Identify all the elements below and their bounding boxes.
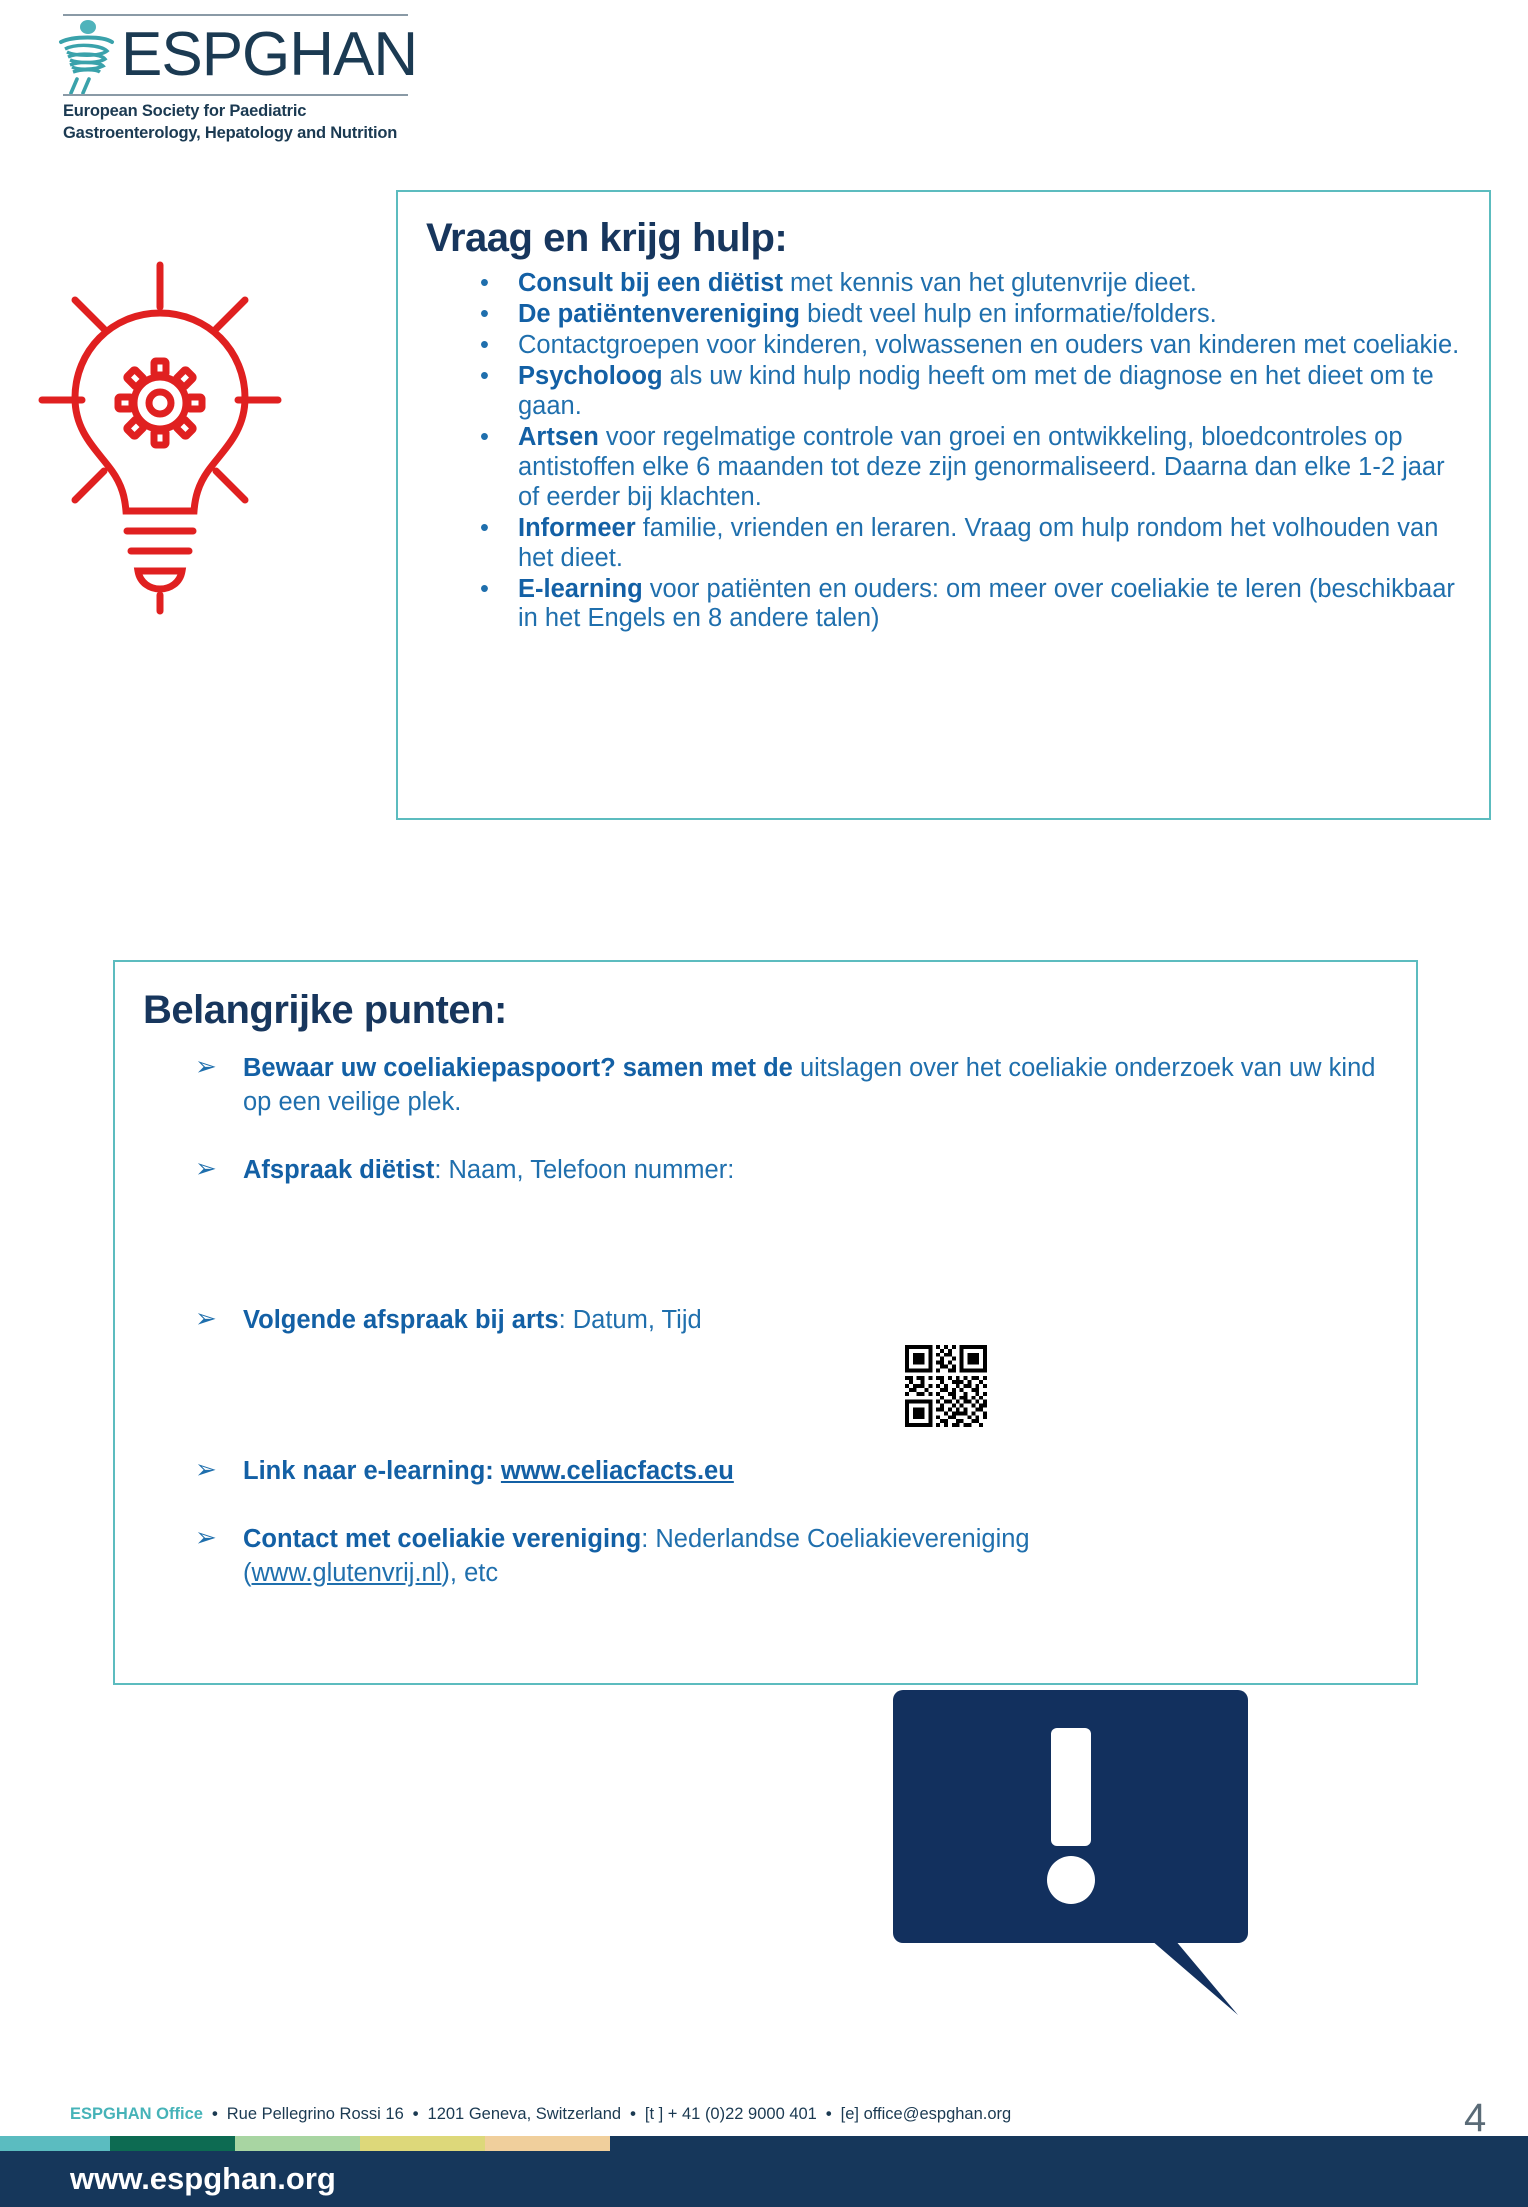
chevron-right-icon: ➢ [195, 1301, 217, 1336]
bar-segment-sand [485, 2136, 610, 2151]
list-item-bold: Link naar e-learning: [243, 1457, 494, 1485]
list-item: •Consult bij een diëtist met kennis van … [518, 269, 1463, 299]
bar-segment-teal [0, 2136, 110, 2151]
important-points-box: Belangrijke punten: ➢ Bewaar uw coeliaki… [113, 960, 1418, 1685]
list-item-bold: Consult bij een diëtist [518, 269, 783, 297]
list-item-text [494, 1457, 501, 1485]
footer-address: Rue Pellegrino Rossi 16 [227, 2105, 404, 2123]
page-number: 4 [1464, 2096, 1486, 2141]
footer-separator: • [621, 2105, 645, 2123]
list-item-text: Contactgroepen voor kinderen, volwassene… [518, 331, 1459, 359]
footer-office: ESPGHAN Office [70, 2105, 203, 2123]
chevron-right-icon: ➢ [195, 1049, 217, 1084]
list-item-bold: Contact met coeliakie vereniging [243, 1525, 641, 1553]
list-item-bold: Artsen [518, 423, 599, 451]
footer-phone: [t ] + 41 (0)22 9000 401 [645, 2105, 817, 2123]
bar-segment-navy [610, 2136, 1528, 2151]
footer-email: [e] office@espghan.org [841, 2105, 1012, 2123]
logo-subtitle-line1: European Society for Paediatric [63, 101, 410, 123]
list-item: •Artsen voor regelmatige controle van gr… [518, 423, 1463, 513]
elearning-link[interactable]: www.celiacfacts.eu [501, 1457, 734, 1485]
list-item-bold: E-learning [518, 575, 643, 603]
list-item: •E-learning voor patiënten en ouders: om… [518, 575, 1463, 635]
logo-subtitle: European Society for Paediatric Gastroen… [63, 101, 410, 145]
list-item-bold: Informeer [518, 514, 636, 542]
list-item-text: met kennis van het glutenvrije dieet. [783, 269, 1197, 297]
exclamation-callout-icon [893, 1690, 1248, 2015]
bullet-icon: • [480, 575, 489, 605]
list-item-text: voor regelmatige controle van groei en o… [518, 423, 1445, 511]
list-item-text: biedt veel hulp en informatie/folders. [800, 300, 1217, 328]
list-item-text: familie, vrienden en leraren. Vraag om h… [518, 514, 1438, 572]
help-bullet-list: •Consult bij een diëtist met kennis van … [398, 263, 1489, 634]
list-item-bold: Volgende afspraak bij arts [243, 1306, 559, 1334]
footer-separator: • [817, 2105, 841, 2123]
bar-segment-yellow [360, 2136, 485, 2151]
qr-code-icon [905, 1345, 987, 1427]
footer-city: 1201 Geneva, Switzerland [428, 2105, 622, 2123]
list-item-bold: Bewaar uw coeliakiepaspoort? samen met d… [243, 1054, 793, 1082]
footer-contact: ESPGHAN Office•Rue Pellegrino Rossi 16•1… [70, 2105, 1430, 2124]
footer-website-url[interactable]: www.espghan.org [70, 2161, 336, 2197]
list-item: ➢ Link naar e-learning: www.celiacfacts.… [243, 1454, 1386, 1488]
association-link[interactable]: www.glutenvrij.nl [252, 1559, 442, 1587]
list-item: •De patiëntenvereniging biedt veel hulp … [518, 300, 1463, 330]
list-item-bold: Afspraak diëtist [243, 1156, 434, 1184]
footer-separator: • [404, 2105, 428, 2123]
list-item: •Informeer familie, vrienden en leraren.… [518, 514, 1463, 574]
bar-segment-lightgreen [235, 2136, 360, 2151]
bullet-icon: • [480, 514, 489, 544]
bullet-icon: • [480, 423, 489, 453]
points-box-title: Belangrijke punten: [115, 962, 1416, 1043]
list-item: ➢ Bewaar uw coeliakiepaspoort? samen met… [243, 1051, 1386, 1119]
logo-rule-bottom [63, 94, 408, 96]
footer-separator: • [203, 2105, 227, 2123]
logo-subtitle-line2: Gastroenterology, Hepatology and Nutriti… [63, 123, 410, 145]
espghan-logo: ESPGHAN European Society for Paediatric … [55, 14, 410, 145]
list-item-bold: De patiëntenvereniging [518, 300, 800, 328]
footer-color-bar [0, 2136, 1528, 2151]
bullet-icon: • [480, 331, 489, 361]
list-item: •Psycholoog als uw kind hulp nodig heeft… [518, 362, 1463, 422]
chevron-right-icon: ➢ [195, 1520, 217, 1555]
list-item: ➢ Contact met coeliakie vereniging: Nede… [243, 1522, 1386, 1590]
points-list: ➢ Bewaar uw coeliakiepaspoort? samen met… [115, 1043, 1416, 1590]
bar-segment-green [110, 2136, 235, 2151]
lightbulb-gear-idea-icon [30, 255, 290, 675]
list-item-bold: Psycholoog [518, 362, 663, 390]
help-box: Vraag en krijg hulp: •Consult bij een di… [396, 190, 1491, 820]
espghan-figure-icon [55, 16, 117, 94]
list-item-tail: ), etc [441, 1559, 498, 1587]
chevron-right-icon: ➢ [195, 1452, 217, 1487]
logo-main-row: ESPGHAN [55, 16, 410, 94]
help-box-title: Vraag en krijg hulp: [398, 192, 1489, 263]
list-item-text: : Datum, Tijd [559, 1306, 702, 1334]
bullet-icon: • [480, 300, 489, 330]
chevron-right-icon: ➢ [195, 1151, 217, 1186]
list-item: • Contactgroepen voor kinderen, volwasse… [518, 331, 1463, 361]
list-item-text: voor patiënten en ouders: om meer over c… [518, 575, 1455, 633]
bullet-icon: • [480, 362, 489, 392]
list-item: ➢ Afspraak diëtist: Naam, Telefoon numme… [243, 1153, 1386, 1187]
list-item: ➢ Volgende afspraak bij arts: Datum, Tij… [243, 1303, 1386, 1337]
bullet-icon: • [480, 269, 489, 299]
list-item-text: : Naam, Telefoon nummer: [434, 1156, 734, 1184]
logo-wordmark: ESPGHAN [121, 16, 417, 94]
